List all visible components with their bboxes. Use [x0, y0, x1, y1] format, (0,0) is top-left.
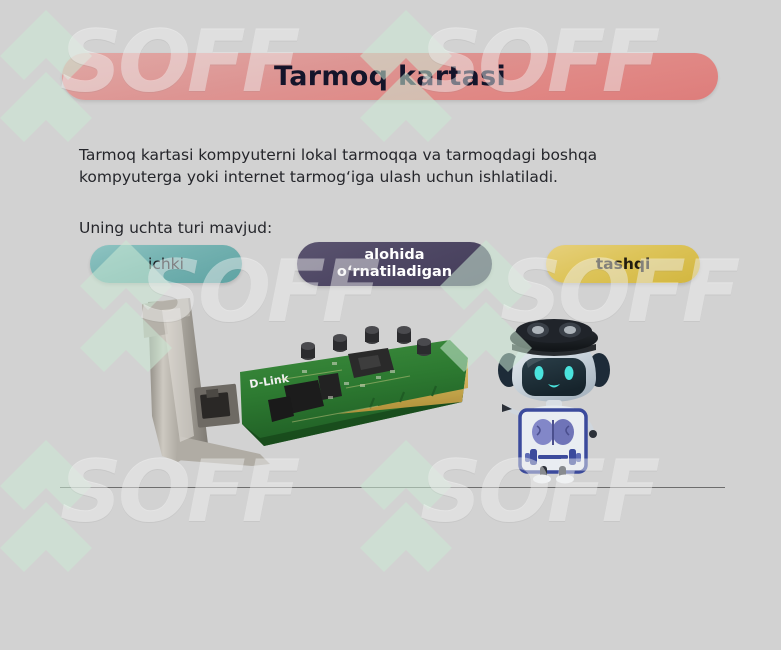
- body-paragraph: Tarmoq kartasi kompyuterni lokal tarmoqq…: [79, 144, 694, 188]
- robot-eye-left: [535, 366, 544, 380]
- type-pill-tashqi-label: tashqi: [596, 255, 651, 273]
- title-banner: Tarmoq kartasi: [62, 53, 718, 100]
- robot-hand-right: [589, 430, 597, 438]
- type-pill-ichki-label: ichki: [148, 255, 184, 273]
- rj45-clip: [206, 389, 219, 398]
- type-pill-ichki[interactable]: ichki: [90, 245, 242, 283]
- robot-eye-right: [565, 366, 574, 380]
- brain-icon: [532, 419, 574, 445]
- robot-mascot-image: [496, 306, 614, 484]
- bottom-divider: [60, 487, 725, 488]
- network-card-image: D-Link: [132, 296, 477, 466]
- type-pill-alohida-line1: alohida: [364, 247, 424, 263]
- slide-canvas: Tarmoq kartasi Tarmoq kartasi kompyutern…: [0, 0, 781, 540]
- subhead-text: Uning uchta turi mavjud:: [79, 218, 272, 240]
- robot-foot-left: [533, 475, 551, 484]
- page-title: Tarmoq kartasi: [274, 63, 506, 90]
- type-pill-tashqi[interactable]: tashqi: [546, 245, 700, 283]
- bracket-foot: [176, 436, 270, 466]
- type-pill-alohida[interactable]: alohida o‘rnatiladigan: [297, 242, 492, 286]
- chip-2: [318, 373, 342, 400]
- type-pill-alohida-line2: o‘rnatiladigan: [337, 264, 452, 280]
- type-pill-alohida-label: alohida o‘rnatiladigan: [337, 247, 452, 280]
- robot-foot-right: [556, 475, 574, 484]
